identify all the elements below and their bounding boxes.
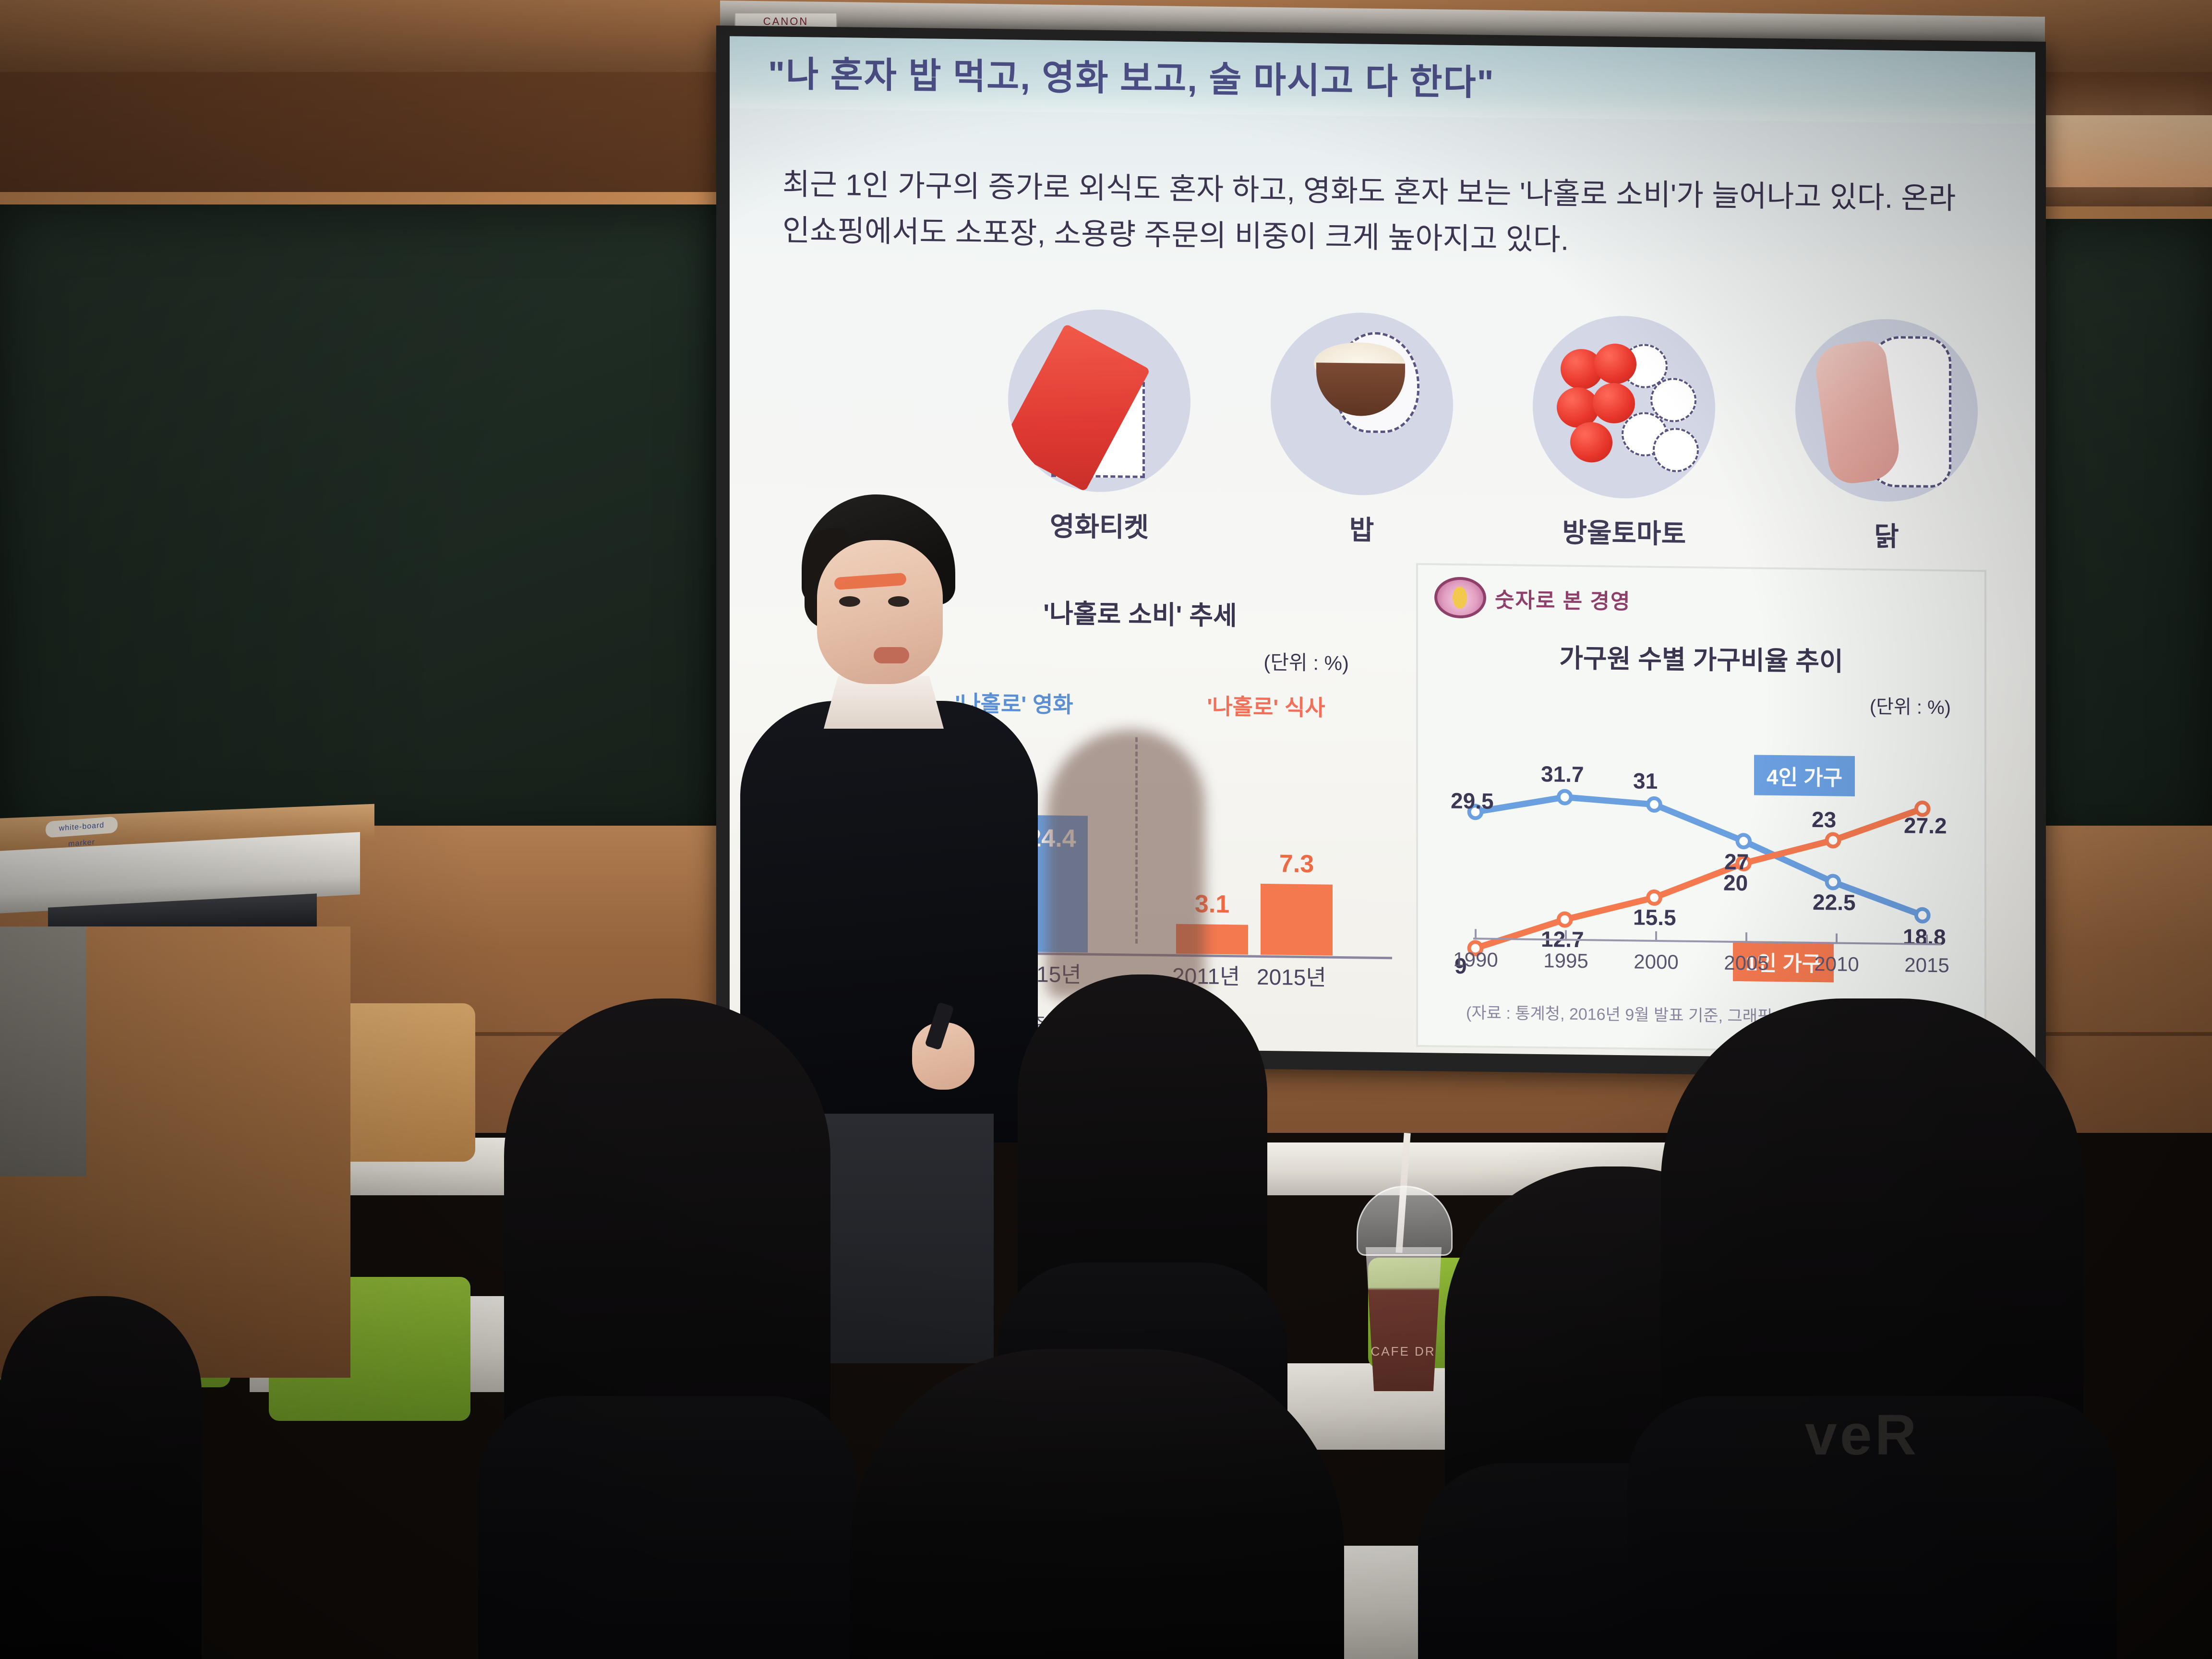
x-tick-label: 2005 xyxy=(1724,951,1768,975)
data-label: 15.5 xyxy=(1633,904,1676,930)
chart-plot-area: 29.5 31.7 31 27 22.5 18.8 9 12.7 15.5 20… xyxy=(1447,726,1960,992)
product-label: 방울토마토 xyxy=(1523,511,1725,552)
legend-badge-4person: 4인 가구 xyxy=(1754,755,1855,796)
slide-body-text: 최근 1인 가구의 증가로 외식도 혼자 하고, 영화도 혼자 보는 '나홀로 … xyxy=(782,162,1978,269)
movie-ticket-icon xyxy=(1008,308,1190,493)
presenter-eye-left xyxy=(839,596,860,607)
student-silhouette-5 xyxy=(1661,998,2083,1659)
product-icon-row: 영화티켓 밥 xyxy=(998,308,1987,570)
chart-household-size-ratio: 숫자로 본 경영 가구원 수별 가구비율 추이 (단위 : %) xyxy=(1416,563,1986,1054)
jacket-print-text: veR xyxy=(1805,1402,1919,1468)
line-chart-svg xyxy=(1447,726,1960,992)
product-item-cherry-tomato: 방울토마토 xyxy=(1523,315,1725,567)
x-label: 2015년 xyxy=(1257,960,1326,992)
chart-unit: (단위 : %) xyxy=(1418,685,1951,720)
x-tick-label: 1990 xyxy=(1453,948,1498,972)
chart-title: 가구원 수별 가구비율 추이 xyxy=(1418,635,1984,680)
eye-logo-icon xyxy=(1434,577,1486,618)
data-label: 18.8 xyxy=(1903,924,1946,950)
chart-brand-label: 숫자로 본 경영 xyxy=(1495,583,1631,615)
slide-title: "나 혼자 밥 먹고, 영화 보고, 술 마시고 다 한다" xyxy=(768,45,1997,111)
x-tick-label: 2010 xyxy=(1814,952,1859,976)
bar-meal-2015: 7.3 xyxy=(1261,884,1333,956)
rice-bowl-icon xyxy=(1271,312,1453,496)
podium-control-panel xyxy=(0,926,86,1176)
legend-item-meal: '나홀로' 식사 xyxy=(1140,688,1392,723)
cup-body xyxy=(1362,1247,1445,1391)
x-tick-label: 2000 xyxy=(1634,950,1678,974)
data-label: 20 xyxy=(1723,870,1748,896)
chicken-icon xyxy=(1795,318,1978,503)
data-label: 31.7 xyxy=(1541,761,1584,787)
cherry-tomato-icon xyxy=(1533,315,1715,500)
lecture-hall-photo: CANON "나 혼자 밥 먹고, 영화 보고, 술 마시고 다 한다" 최근 … xyxy=(0,0,2212,1659)
whiteboard-marker: white-board marker xyxy=(46,817,118,838)
data-label: 31 xyxy=(1633,768,1658,794)
product-item-chicken: 닭 xyxy=(1786,318,1987,570)
presenter-trousers xyxy=(802,1114,994,1363)
product-item-rice: 밥 xyxy=(1261,312,1463,564)
presenter-eye-right xyxy=(888,596,909,607)
iced-coffee-cup: CAFE DR xyxy=(1353,1186,1454,1392)
cup-brand-label: CAFE DR xyxy=(1353,1344,1454,1359)
student-silhouette-3 xyxy=(850,1349,1344,1659)
cup-dome-lid xyxy=(1357,1186,1453,1256)
student-silhouette-6 xyxy=(0,1296,202,1659)
lectern-podium: white-board marker xyxy=(0,811,384,1378)
data-label: 29.5 xyxy=(1451,788,1494,814)
student-silhouette-1 xyxy=(504,998,830,1659)
product-label: 닭 xyxy=(1786,514,1987,555)
data-label: 27.2 xyxy=(1904,812,1947,839)
chart-brand-row: 숫자로 본 경영 xyxy=(1418,565,1984,625)
presenter-mouth xyxy=(874,647,909,663)
x-tick-label: 1995 xyxy=(1543,949,1588,973)
data-label: 23 xyxy=(1812,806,1836,833)
product-label: 밥 xyxy=(1261,507,1463,549)
bar-value: 7.3 xyxy=(1261,849,1333,879)
data-label: 22.5 xyxy=(1813,889,1856,915)
chalkboard-left xyxy=(0,192,725,857)
x-tick-label: 2015 xyxy=(1904,953,1949,977)
